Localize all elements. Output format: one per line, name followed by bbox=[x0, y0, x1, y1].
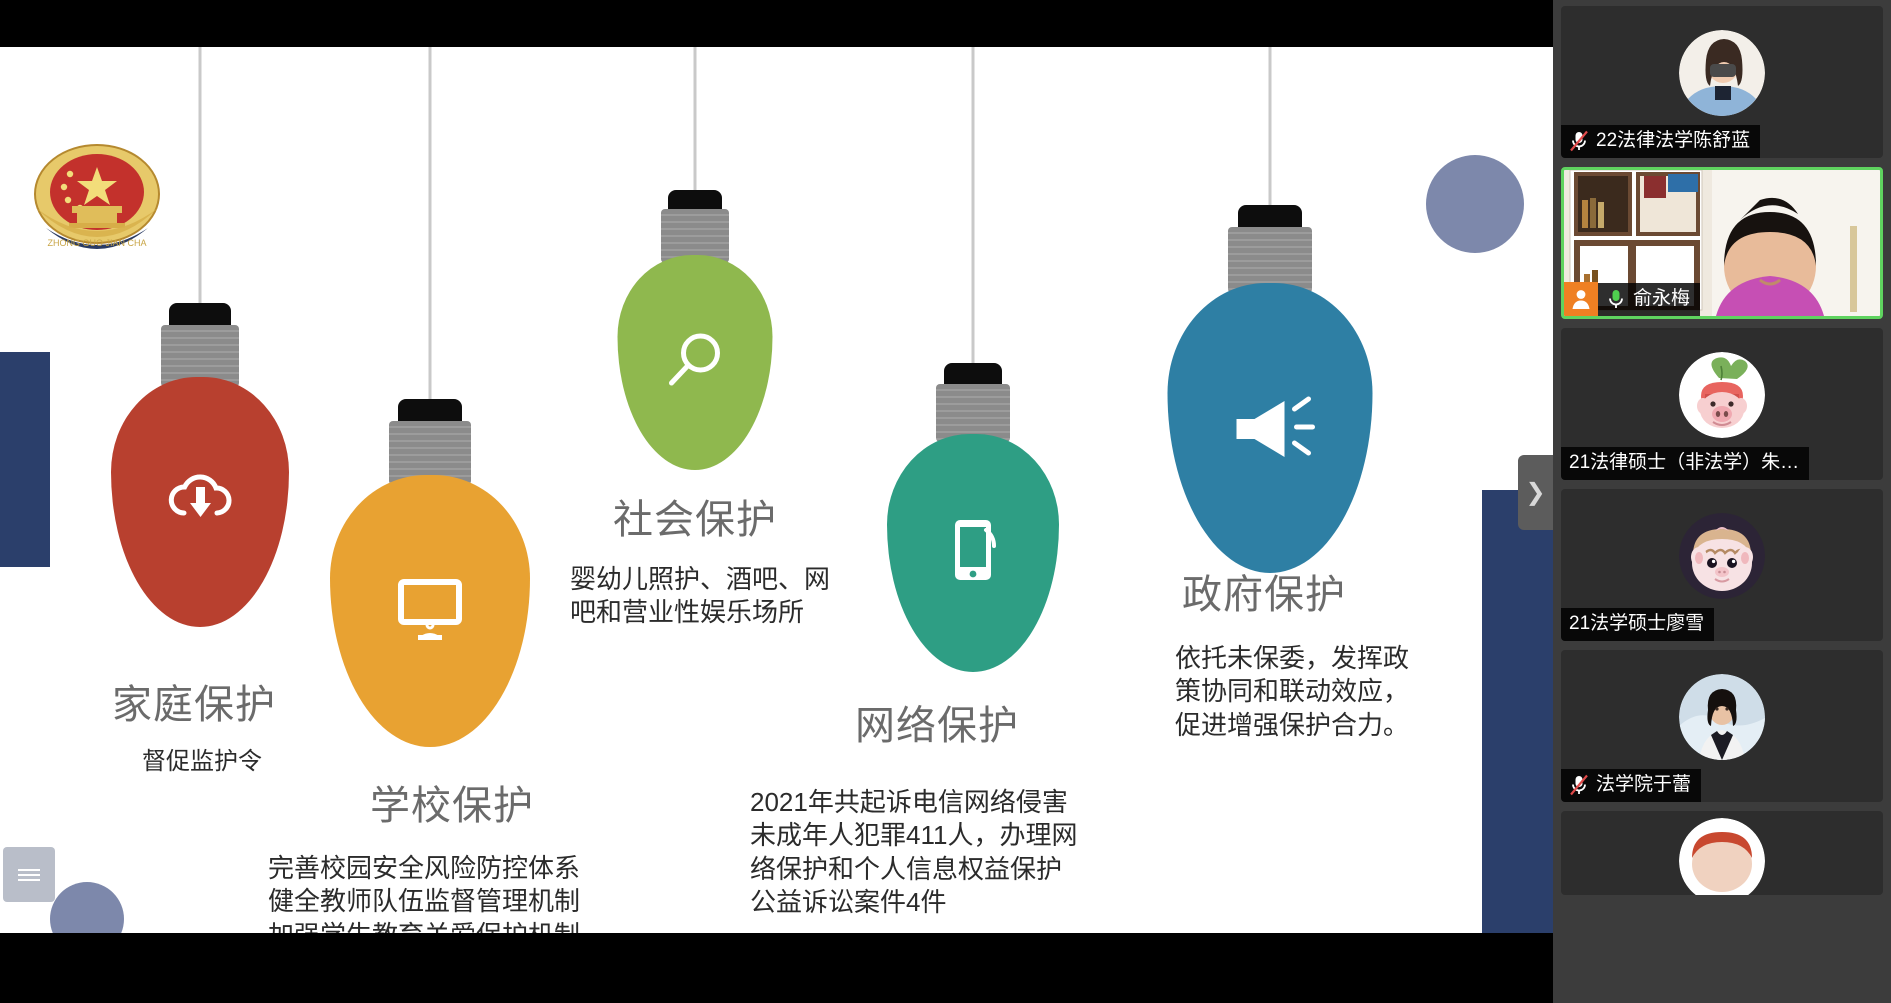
bulb-school bbox=[330, 47, 530, 767]
decorative-circle-top-right bbox=[1426, 155, 1524, 253]
decorative-navy-square-right bbox=[1482, 490, 1553, 933]
bulb-society bbox=[615, 47, 775, 467]
participant-tile-active[interactable]: 俞永梅 bbox=[1561, 167, 1883, 319]
meeting-window: ZHONG GUO JIAN CHA bbox=[0, 0, 1891, 1003]
name-label-row: 22法律法学陈舒蓝 bbox=[1561, 125, 1760, 158]
participant-tile[interactable]: 22法律法学陈舒蓝 bbox=[1561, 6, 1883, 158]
name-label-row: 21法律硕士（非法学）朱… bbox=[1561, 447, 1809, 480]
decorative-navy-square-left bbox=[0, 352, 50, 567]
participant-name: 22法律法学陈舒蓝 bbox=[1596, 130, 1750, 152]
bulb-family bbox=[110, 47, 290, 687]
avatar bbox=[1679, 818, 1765, 895]
participant-name: 俞永梅 bbox=[1633, 288, 1690, 310]
bulb-government bbox=[1165, 47, 1375, 607]
bulb-network bbox=[885, 47, 1060, 667]
avatar bbox=[1679, 513, 1765, 599]
decorative-circle-bottom-left bbox=[50, 882, 124, 933]
section-title-society: 社会保护 bbox=[613, 487, 777, 545]
chevron-right-icon: ❯ bbox=[1525, 478, 1545, 507]
participant-tile[interactable]: 21法律硕士（非法学）朱… bbox=[1561, 328, 1883, 480]
participant-tile[interactable]: 21法学硕士廖雪 bbox=[1561, 489, 1883, 641]
section-title-government: 政府保护 bbox=[1182, 562, 1346, 620]
participant-name: 21法学硕士廖雪 bbox=[1569, 613, 1704, 635]
avatar bbox=[1679, 674, 1765, 760]
host-person-icon bbox=[1564, 282, 1598, 316]
section-body-society: 婴幼儿照护、酒吧、网 吧和营业性娱乐场所 bbox=[570, 563, 830, 630]
mic-muted-icon bbox=[1569, 130, 1589, 152]
collapse-panel-button[interactable]: ❯ bbox=[1518, 455, 1553, 530]
section-body-school: 完善校园安全风险防控体系 健全教师队伍监督管理机制 加强学生教育关爱保护机制 bbox=[268, 852, 580, 933]
avatar bbox=[1679, 30, 1765, 116]
magnifier-icon bbox=[662, 327, 728, 398]
participant-filmstrip[interactable]: 22法律法学陈舒蓝 bbox=[1553, 0, 1891, 1003]
participant-name: 法学院于蕾 bbox=[1596, 774, 1691, 796]
cloud-download-icon bbox=[164, 469, 236, 536]
participant-tile[interactable]: 法学院于蕾 bbox=[1561, 650, 1883, 802]
megaphone-icon bbox=[1222, 387, 1318, 470]
smartphone-icon bbox=[942, 514, 1004, 593]
name-label-row: 21法学硕士廖雪 bbox=[1561, 608, 1714, 641]
section-body-network: 2021年共起诉电信网络侵害 未成年人犯罪411人，办理网 络保护和个人信息权益… bbox=[750, 786, 1077, 919]
screen-share-stage: ZHONG GUO JIAN CHA bbox=[0, 0, 1553, 1003]
section-title-network: 网络保护 bbox=[855, 693, 1019, 751]
section-body-family: 督促监护令 bbox=[142, 747, 262, 778]
name-label-row: 法学院于蕾 bbox=[1561, 769, 1701, 802]
participant-name: 21法律硕士（非法学）朱… bbox=[1569, 452, 1799, 474]
section-title-family: 家庭保护 bbox=[112, 672, 276, 730]
participant-tile-partial[interactable] bbox=[1561, 811, 1883, 895]
mic-muted-icon bbox=[1569, 774, 1589, 796]
monitor-icon bbox=[391, 576, 469, 647]
hamburger-menu-icon[interactable] bbox=[3, 847, 55, 902]
avatar bbox=[1679, 352, 1765, 438]
section-title-school: 学校保护 bbox=[370, 773, 534, 831]
name-label-row: 俞永梅 bbox=[1598, 283, 1700, 316]
section-body-government: 依托未保委，发挥政 策协同和联动效应， 促进增强保护合力。 bbox=[1175, 642, 1409, 742]
mic-on-icon bbox=[1606, 288, 1626, 310]
presentation-slide: ZHONG GUO JIAN CHA bbox=[0, 47, 1553, 933]
